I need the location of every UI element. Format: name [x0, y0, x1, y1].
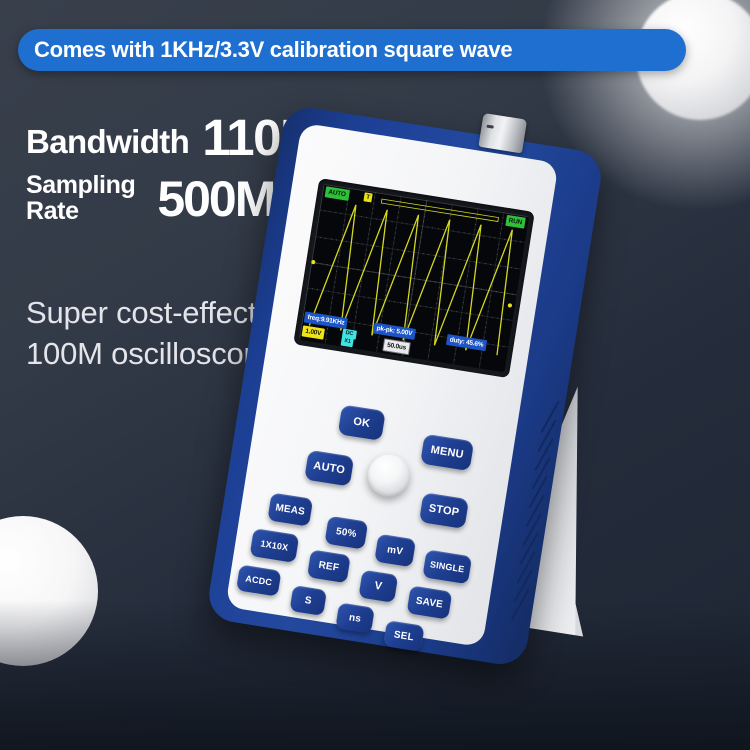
promo-banner-text: Comes with 1KHz/3.3V calibration square …	[34, 37, 512, 63]
trigger-marker-icon: T	[363, 192, 372, 202]
rotary-knob[interactable]	[365, 452, 413, 500]
bandwidth-label: Bandwidth	[26, 125, 189, 163]
trigger-level-marker	[507, 303, 512, 308]
keypad-button-ok[interactable]: OK	[338, 404, 386, 441]
sampling-rate-label: Sampling Rate	[26, 173, 135, 224]
oscilloscope-screen[interactable]: AUTO T RUN freq:9.91KHz pk-pk: 5.00V dut…	[299, 184, 529, 373]
keypad-button-acdc[interactable]: ACDC	[236, 564, 282, 596]
keypad-button-50[interactable]: 50%	[324, 516, 368, 550]
keypad-button-auto[interactable]: AUTO	[304, 450, 354, 487]
readout-probe-ratio: X1	[341, 337, 355, 348]
screen-bezel: AUTO T RUN freq:9.91KHz pk-pk: 5.00V dut…	[293, 178, 535, 378]
readout-timebase: 50.0us	[382, 338, 411, 355]
keypad-button-v[interactable]: V	[358, 570, 398, 603]
keypad-button-single[interactable]: SINGLE	[422, 549, 472, 584]
keypad-button-1x10x[interactable]: 1X10X	[250, 528, 300, 563]
promo-banner: Comes with 1KHz/3.3V calibration square …	[18, 29, 686, 71]
keypad-button-stop[interactable]: STOP	[419, 492, 469, 529]
keypad-button-s[interactable]: S	[289, 585, 327, 616]
keypad-button-meas[interactable]: MEAS	[267, 492, 313, 526]
bnc-connector[interactable]	[478, 113, 527, 153]
readout-volts-per-div: 1.00V	[302, 325, 325, 339]
status-auto-badge: AUTO	[325, 186, 350, 201]
keypad-button-save[interactable]: SAVE	[407, 585, 453, 619]
keypad-button-ns[interactable]: ns	[335, 602, 375, 633]
keypad-button-mv[interactable]: mV	[374, 534, 416, 568]
keypad-button-menu[interactable]: MENU	[420, 434, 474, 471]
channel-ground-marker	[311, 260, 316, 265]
keypad-button-ref[interactable]: REF	[307, 549, 351, 583]
run-indicator-badge: RUN	[505, 215, 526, 229]
